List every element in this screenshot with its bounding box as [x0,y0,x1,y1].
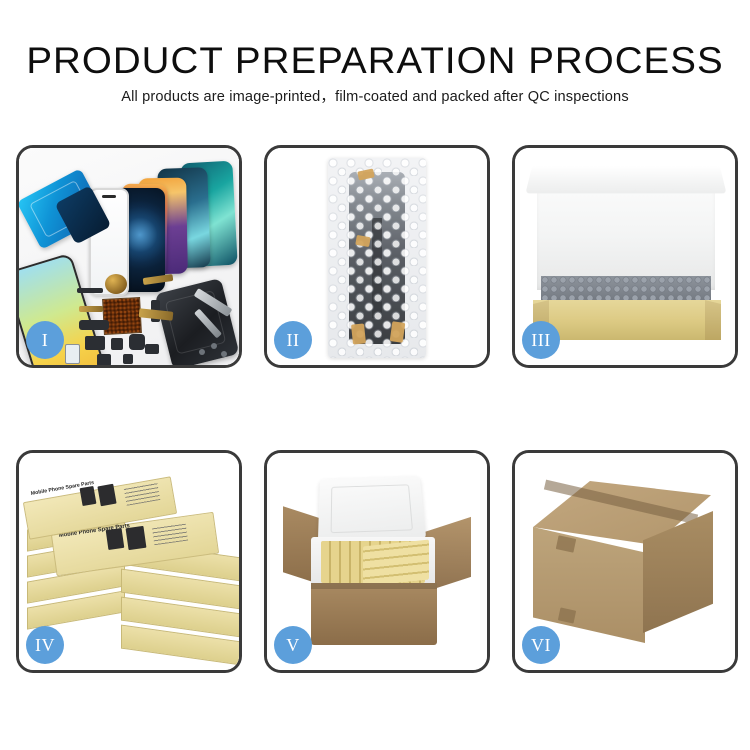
flex-cable-short-icon [79,306,103,312]
box-artwork-phone-icon [80,486,97,506]
process-step-panel-1[interactable]: I [16,145,242,368]
box-artwork-phone-icon [126,526,147,550]
carton-body-icon [311,583,437,645]
process-step-grid: I II III [16,145,738,673]
carton-front-icon [533,527,645,643]
tape-icon [390,321,406,343]
step-badge-4: IV [26,626,64,664]
part-chip-icon [111,338,123,350]
part-small-chip-icon [123,354,133,364]
step-badge-1: I [26,321,64,359]
process-step-panel-4[interactable]: Mobile Phone Spare Parts Mobile Phone Sp… [16,450,242,673]
foam-lid-icon [537,170,715,290]
tape-icon [351,323,366,344]
page-subtitle: All products are image-printed，film-coat… [0,90,750,105]
box-artwork-phone-icon [97,484,116,506]
speaker-module-icon [105,274,127,294]
screw-icon [211,343,217,349]
logic-board-icon [102,297,142,335]
page-title: PRODUCT PREPARATION PROCESS [0,42,750,79]
step-badge-6: VI [522,626,560,664]
step-badge-5: V [274,626,312,664]
kraft-box-base-icon [533,300,721,340]
process-step-panel-3[interactable]: III [512,145,738,368]
bubble-texture [328,158,426,358]
bubble-wrap-bag-icon [328,158,426,358]
step-badge-3: III [522,321,560,359]
part-speaker-icon [97,354,111,365]
screw-icon [221,351,227,357]
screw-icon [199,349,205,355]
part-camera-icon [129,334,145,350]
part-strip-icon [77,288,103,293]
foam-box-lid-icon [318,476,426,543]
sim-tray-icon [65,344,80,364]
part-connector-icon [85,336,105,350]
step-badge-2: II [274,321,312,359]
part-bracket-icon [145,344,159,354]
process-step-panel-2[interactable]: II [264,145,490,368]
page-header: PRODUCT PREPARATION PROCESS All products… [0,0,750,128]
retail-boxes-row-icon [363,540,429,587]
part-module-icon [79,320,109,330]
process-step-panel-6[interactable]: VI [512,450,738,673]
process-step-panel-5[interactable]: V [264,450,490,673]
